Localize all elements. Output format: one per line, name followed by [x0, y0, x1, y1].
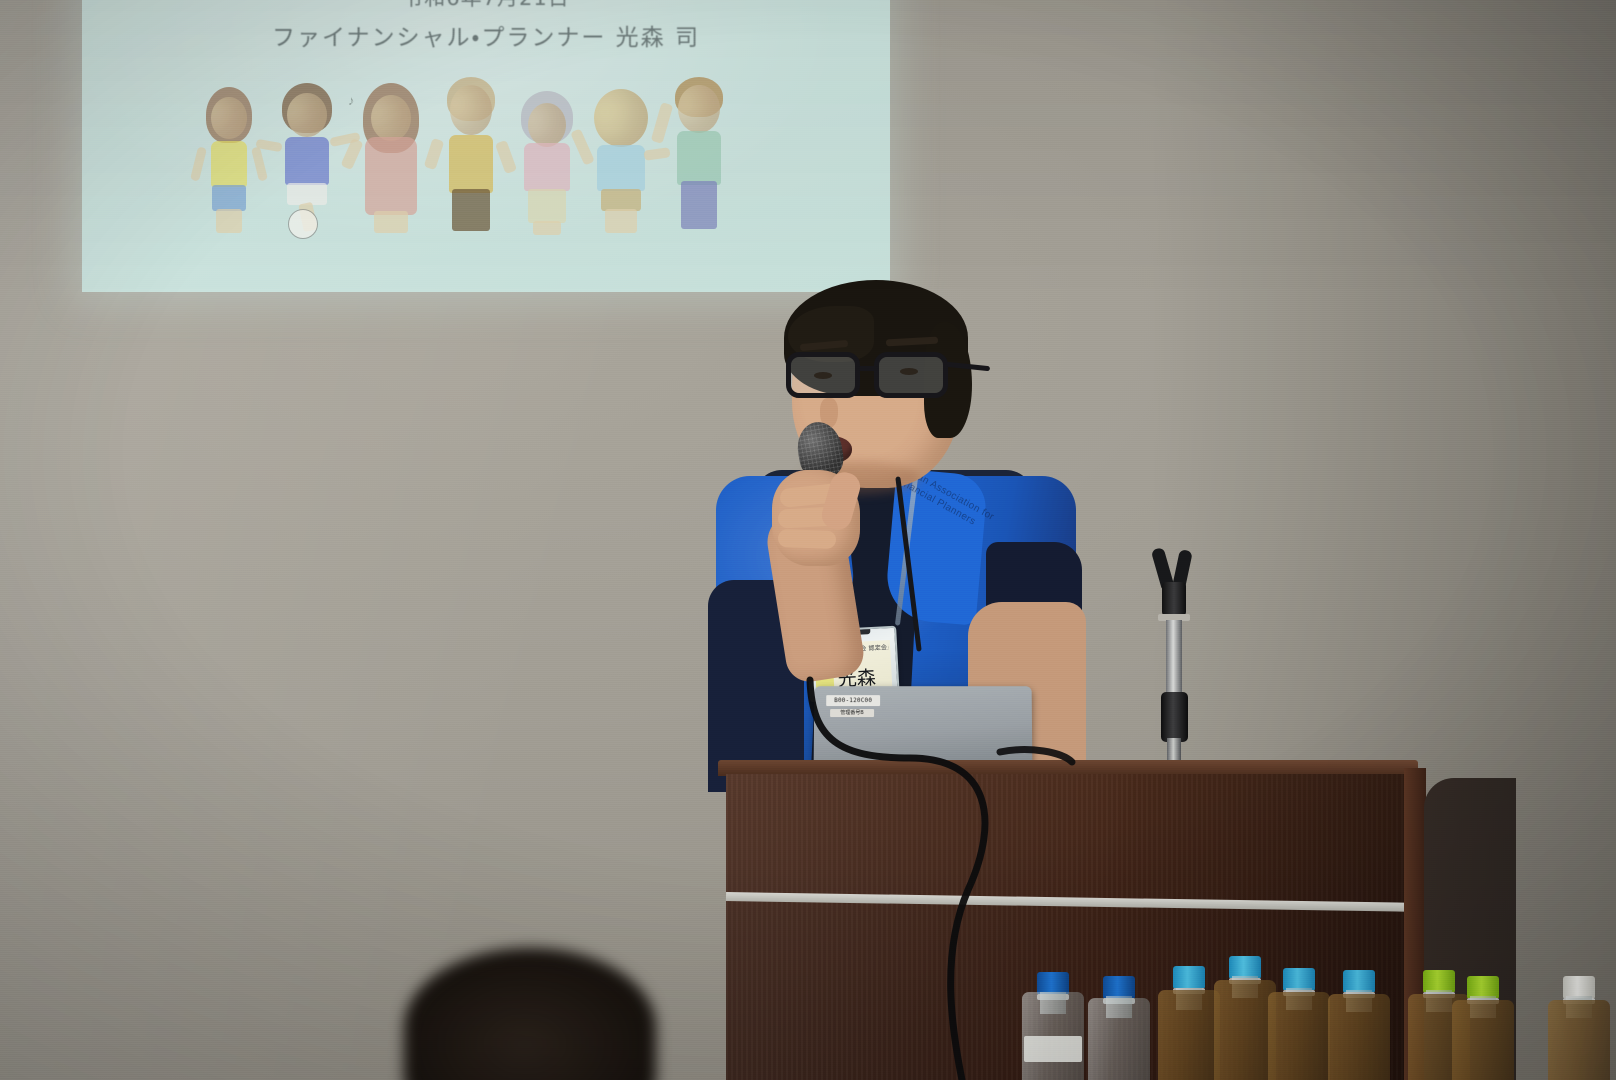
- head: [371, 95, 411, 141]
- head: [594, 89, 648, 147]
- microphone-stand[interactable]: [1152, 548, 1202, 768]
- bottle-cap: [1283, 968, 1315, 990]
- trousers: [452, 189, 490, 231]
- bottle-cap: [1037, 972, 1069, 994]
- soccer-ball: [288, 209, 318, 239]
- legs: [212, 185, 246, 211]
- trousers: [681, 181, 717, 229]
- cardigan: [524, 143, 570, 191]
- shorts: [601, 189, 641, 211]
- figure-older-man-yellow: [438, 77, 504, 235]
- bottle-body: [1548, 1000, 1610, 1080]
- figure-girl-playing: [198, 85, 260, 235]
- bottle-cap: [1563, 976, 1595, 998]
- slide-presenter-line: ファイナンシャル・プランナー 光森 司: [82, 27, 890, 50]
- torso: [211, 141, 247, 187]
- figure-bald-man-blue-shirt: [586, 87, 656, 235]
- bottle-body: [1268, 992, 1330, 1080]
- head: [211, 97, 247, 139]
- stand-upper-rod: [1166, 620, 1182, 696]
- stand-adjust-knob[interactable]: [1161, 692, 1188, 742]
- slide-text-block: 令和6年7月21日 ファイナンシャル・プランナー 光森 司: [82, 0, 890, 50]
- arm-right: [495, 140, 517, 174]
- dress: [365, 137, 417, 215]
- arm-left: [190, 146, 207, 181]
- bottle-cap: [1423, 970, 1455, 992]
- bottle-body: [1214, 980, 1276, 1080]
- shirt: [597, 145, 645, 191]
- legs: [533, 221, 561, 235]
- figure-woman-in-dress: [356, 79, 426, 235]
- head: [678, 85, 720, 133]
- torso: [449, 135, 493, 193]
- photo-scene: 令和6年7月21日 ファイナンシャル・プランナー 光森 司: [0, 0, 1616, 1080]
- figure-elderly-woman: [516, 85, 578, 235]
- bottle-cap: [1467, 976, 1499, 998]
- lower-legs: [216, 209, 242, 233]
- figure-boy-with-soccer-ball: [270, 83, 344, 235]
- skirt: [528, 189, 566, 223]
- legs: [605, 209, 637, 233]
- arm-right: [251, 146, 268, 181]
- bottle-cap: [1229, 956, 1261, 978]
- bottle-body: [1328, 994, 1390, 1080]
- legs: [374, 211, 408, 233]
- glasses-bridge: [858, 366, 878, 371]
- bottle-body: [1452, 1000, 1514, 1080]
- slide-date-line: 令和6年7月21日: [82, 0, 890, 9]
- bottle-row: [1000, 955, 1616, 1080]
- mic-clip-base: [1162, 582, 1186, 616]
- jacket: [677, 131, 721, 185]
- eyeglasses: [786, 352, 958, 400]
- eye-left: [814, 372, 832, 379]
- figure-man-waving-green: [668, 77, 730, 235]
- head: [287, 93, 327, 137]
- bottle-label: [1024, 1036, 1082, 1062]
- bottle-cap: [1343, 970, 1375, 992]
- arm-left: [424, 138, 445, 170]
- music-note-icon: ♪: [348, 93, 355, 108]
- finger-3: [778, 529, 837, 549]
- bottle-cap: [1173, 966, 1205, 988]
- lens-right: [874, 352, 948, 398]
- projected-slide: 令和6年7月21日 ファイナンシャル・プランナー 光森 司: [82, 0, 890, 292]
- bottle-cap: [1103, 976, 1135, 998]
- head: [450, 85, 492, 135]
- slide-illustration: ♪: [190, 75, 730, 235]
- head: [528, 103, 566, 147]
- bottle-body: [1088, 998, 1150, 1080]
- eye-right: [900, 368, 918, 375]
- bottle-body: [1158, 990, 1220, 1080]
- torso: [285, 137, 329, 185]
- arm-right: [643, 147, 670, 161]
